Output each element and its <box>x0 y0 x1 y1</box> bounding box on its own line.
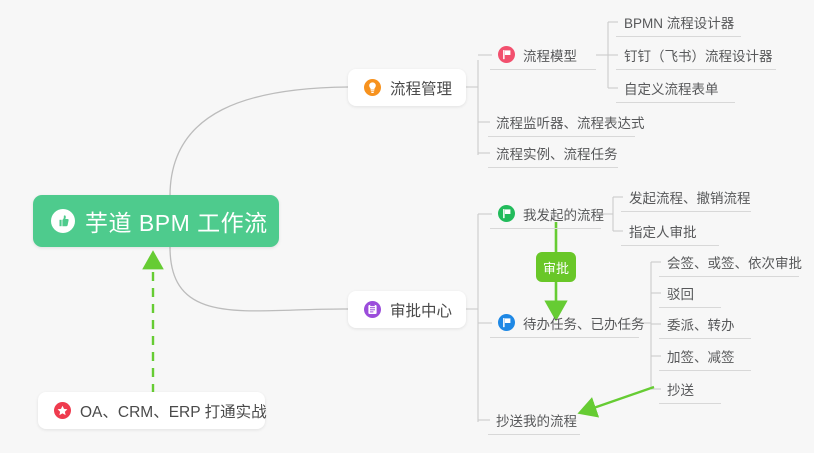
edge-root-to-process-management <box>170 87 348 196</box>
clipboard-icon <box>364 301 381 318</box>
node-label: 发起流程、撤销流程 <box>629 187 751 207</box>
flag-icon <box>498 314 515 331</box>
mindmap-canvas: 芋道 BPM 工作流 流程管理 流程模型 流程监听器、流程表达式 流程实例、流程… <box>0 0 814 453</box>
node-approval-center[interactable]: 审批中心 <box>348 291 466 328</box>
node-custom-form[interactable]: 自定义流程表单 <box>616 74 735 103</box>
node-delegate-transfer[interactable]: 委派、转办 <box>659 310 751 339</box>
node-label: 流程模型 <box>523 45 577 65</box>
node-todo-done-tasks[interactable]: 待办任务、已办任务 <box>490 308 639 338</box>
node-label: 待办任务、已办任务 <box>523 313 645 333</box>
node-process-instance[interactable]: 流程实例、流程任务 <box>488 138 618 168</box>
node-label: 流程实例、流程任务 <box>496 143 618 163</box>
node-label: 抄送我的流程 <box>496 410 577 430</box>
node-reject[interactable]: 驳回 <box>659 279 721 308</box>
node-label: 流程管理 <box>390 77 452 99</box>
node-label: 审批中心 <box>390 299 452 321</box>
node-bpmn-designer[interactable]: BPMN 流程设计器 <box>616 8 741 37</box>
lightbulb-icon <box>364 79 381 96</box>
node-label: 自定义流程表单 <box>624 78 719 98</box>
node-label: 驳回 <box>667 283 694 303</box>
node-integration-note[interactable]: OA、CRM、ERP 打通实战 <box>38 392 265 429</box>
node-cc[interactable]: 抄送 <box>659 375 721 404</box>
flag-icon <box>498 46 515 63</box>
node-label: 委派、转办 <box>667 314 735 334</box>
node-start-cancel-process[interactable]: 发起流程、撤销流程 <box>621 183 751 212</box>
root-label: 芋道 BPM 工作流 <box>85 204 268 238</box>
node-label: OA、CRM、ERP 打通实战 <box>80 400 267 422</box>
thumbs-up-icon <box>51 209 75 233</box>
node-label: 加签、减签 <box>667 346 735 366</box>
node-process-management[interactable]: 流程管理 <box>348 69 466 106</box>
tag-label: 审批 <box>543 258 569 277</box>
node-process-listener[interactable]: 流程监听器、流程表达式 <box>488 107 635 137</box>
node-cosign-types[interactable]: 会签、或签、依次审批 <box>659 248 799 277</box>
star-icon <box>54 402 71 419</box>
node-label: 抄送 <box>667 379 694 399</box>
node-add-remove-sign[interactable]: 加签、减签 <box>659 342 751 371</box>
node-assignee-approval[interactable]: 指定人审批 <box>621 217 719 246</box>
node-label: 流程监听器、流程表达式 <box>496 112 645 132</box>
node-label: 会签、或签、依次审批 <box>667 252 802 272</box>
node-cc-to-me[interactable]: 抄送我的流程 <box>488 405 580 435</box>
node-process-model[interactable]: 流程模型 <box>490 40 596 70</box>
node-my-initiated[interactable]: 我发起的流程 <box>490 199 601 229</box>
node-dingtalk-designer[interactable]: 钉钉（飞书）流程设计器 <box>616 41 776 70</box>
node-label: BPMN 流程设计器 <box>624 12 734 32</box>
node-label: 钉钉（飞书）流程设计器 <box>624 45 773 65</box>
arrow-cc-to-ccflow <box>582 387 654 412</box>
tag-approval[interactable]: 审批 <box>536 252 576 282</box>
edge-root-to-approval-center <box>170 247 348 311</box>
node-label: 我发起的流程 <box>523 204 604 224</box>
node-label: 指定人审批 <box>629 221 697 241</box>
flag-icon <box>498 205 515 222</box>
root-node[interactable]: 芋道 BPM 工作流 <box>33 195 279 247</box>
